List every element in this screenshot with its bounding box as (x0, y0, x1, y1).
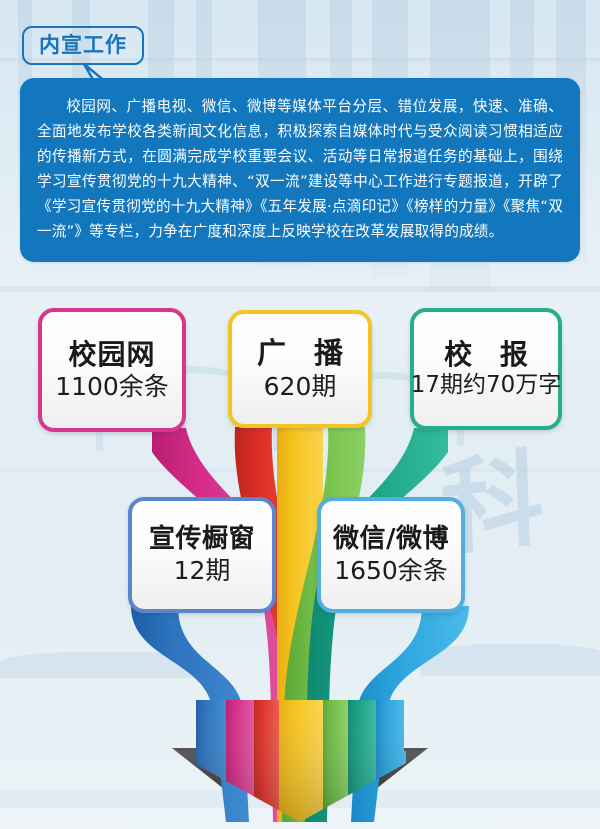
arrow-body (170, 690, 430, 829)
stat-card-value: 1650余条 (334, 557, 448, 585)
section-tag-box: 内宣工作 (22, 26, 144, 65)
description-panel: 校园网、广播电视、微信、微博等媒体平台分层、错位发展，快速、准确、全面地发布学校… (20, 78, 580, 262)
stat-card-value: 17期约70万字 (411, 373, 562, 399)
stat-card-broadcast[interactable]: 广 播 620期 (228, 310, 372, 428)
stat-card-wechat-weibo[interactable]: 微信/微博 1650余条 (317, 497, 465, 613)
stat-card-value: 12期 (174, 557, 231, 585)
description-text: 校园网、广播电视、微信、微博等媒体平台分层、错位发展，快速、准确、全面地发布学校… (37, 94, 563, 245)
stat-card-title: 校园网 (68, 339, 155, 370)
stat-card-campus-web[interactable]: 校园网 1100余条 (38, 308, 186, 432)
stat-card-title: 宣传橱窗 (149, 525, 255, 554)
speech-bubble-tail-icon (82, 62, 122, 94)
stat-card-title: 微信/微博 (333, 525, 449, 554)
stat-card-value: 1100余条 (55, 373, 169, 401)
section-tag-label: 内宣工作 (39, 34, 127, 56)
stat-card-title: 校 报 (435, 339, 537, 370)
stat-card-school-newspaper[interactable]: 校 报 17期约70万字 (410, 308, 562, 430)
stat-card-value: 620期 (264, 373, 337, 401)
stat-card-title: 广 播 (248, 337, 352, 369)
section-tag: 内宣工作 (22, 26, 144, 65)
stat-card-display-window[interactable]: 宣传橱窗 12期 (128, 497, 276, 613)
infographic-poster: 科 (0, 0, 600, 829)
